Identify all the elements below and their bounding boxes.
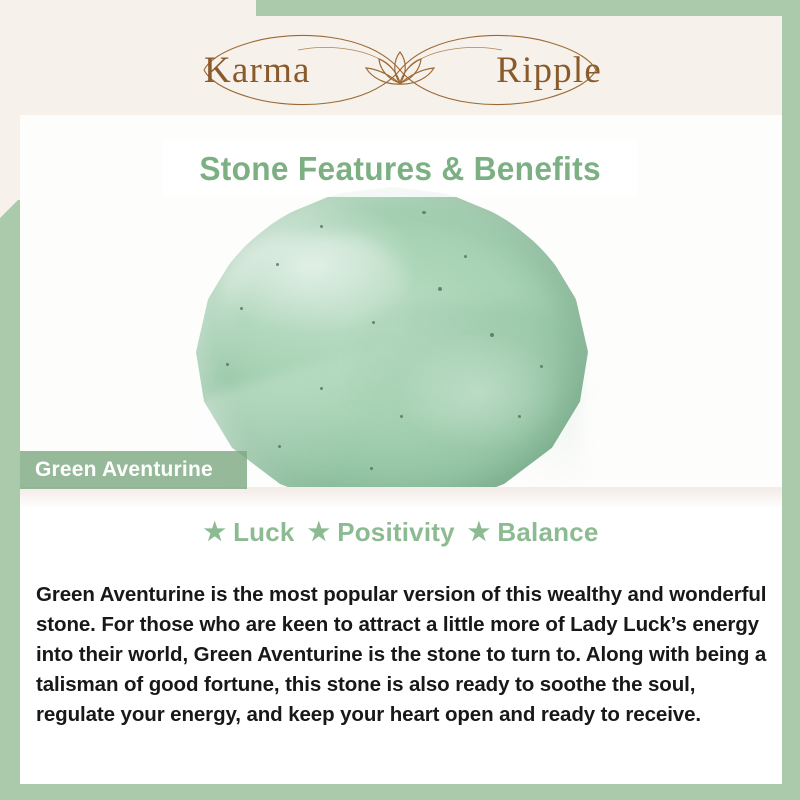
frame-border-left <box>0 200 20 784</box>
stone-speck <box>276 263 279 266</box>
stone-speck <box>240 307 243 310</box>
infographic-poster: Karma Ripple Stone Features & Benefits G… <box>0 0 800 800</box>
stone-speck <box>370 467 373 470</box>
frame-border-right <box>782 0 800 800</box>
stone-speck <box>438 287 442 291</box>
stone-speck <box>540 365 543 368</box>
section-title-banner: Stone Features & Benefits <box>163 140 637 197</box>
keyword-item-balance: ★ Balance <box>468 517 599 548</box>
stone-name-badge: Green Aventurine <box>20 451 247 489</box>
page-title: Stone Features & Benefits <box>199 150 601 188</box>
stone-speck <box>320 387 323 390</box>
stone-speck <box>226 363 229 366</box>
brand-name-left: Karma <box>204 49 311 92</box>
stone-speck <box>400 415 403 418</box>
stone-description: Green Aventurine is the most popular ver… <box>36 580 774 730</box>
star-icon: ★ <box>203 520 226 545</box>
stone-speck <box>464 255 467 258</box>
stone-speck <box>320 225 323 228</box>
stone-name-label: Green Aventurine <box>35 458 213 482</box>
star-icon: ★ <box>308 520 331 545</box>
frame-border-top <box>256 0 800 16</box>
brand-logo: Karma Ripple <box>0 28 800 112</box>
content-panel: ★ Luck ★ Positivity ★ Balance Green Aven… <box>20 487 782 784</box>
stone-speck <box>278 445 281 448</box>
keyword-list: ★ Luck ★ Positivity ★ Balance <box>20 510 782 554</box>
panel-top-fade <box>20 487 782 509</box>
star-icon: ★ <box>468 520 491 545</box>
stone-facet-right <box>350 305 580 487</box>
frame-border-bottom <box>0 784 800 800</box>
keyword-label: Luck <box>233 517 294 548</box>
stone-speck <box>372 321 375 324</box>
stone-speck <box>518 415 521 418</box>
brand-name-right: Ripple <box>496 49 602 92</box>
stone-speck <box>490 333 494 337</box>
keyword-label: Balance <box>497 517 598 548</box>
keyword-label: Positivity <box>337 517 455 548</box>
keyword-item-luck: ★ Luck <box>203 517 294 548</box>
keyword-item-positivity: ★ Positivity <box>308 517 455 548</box>
stone-speck <box>422 211 426 214</box>
